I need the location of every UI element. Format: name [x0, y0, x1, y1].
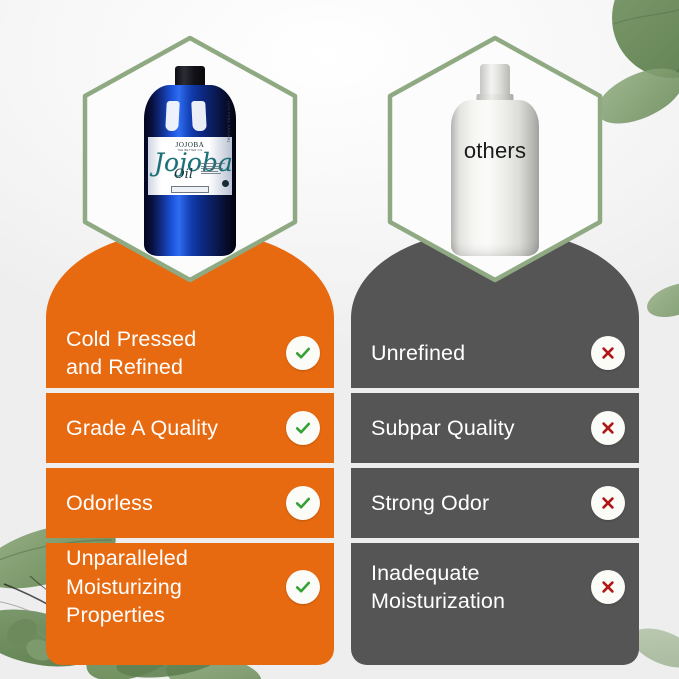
bottle-highlight-left — [165, 101, 180, 131]
comparison-infographic: Cold Pressed and Refined Grade A Quality… — [0, 0, 679, 679]
table-row[interactable]: Unrefined — [351, 318, 639, 388]
label-seal-icon — [222, 180, 229, 187]
hexagon-jojoba-content: JOJOBA THE BETTER OIL Jojoba Oil 100% PU… — [76, 32, 304, 286]
bottle-label-text: others — [451, 138, 539, 164]
table-row[interactable]: Subpar Quality — [351, 393, 639, 463]
right-column-others: Unrefined Subpar Quality Strong Odor — [351, 232, 639, 665]
row-label: Strong Odor — [371, 489, 583, 517]
table-row[interactable]: Inadequate Moisturization — [351, 543, 639, 631]
right-rows: Unrefined Subpar Quality Strong Odor — [351, 318, 639, 631]
bottle-body — [451, 100, 539, 256]
cross-icon — [591, 336, 625, 370]
others-bottle-image: others — [451, 64, 539, 256]
bottle-highlight-right — [191, 101, 207, 131]
bottle-body: JOJOBA THE BETTER OIL Jojoba Oil 100% PU… — [144, 85, 236, 256]
label-script-sub: Oil — [174, 167, 193, 182]
left-column-jojoba: Cold Pressed and Refined Grade A Quality… — [46, 232, 334, 665]
label-volume-strip — [171, 186, 209, 193]
row-label: Inadequate Moisturization — [371, 559, 583, 616]
row-label: Odorless — [66, 489, 278, 517]
table-row[interactable]: Unparalleled Moisturizing Properties — [46, 543, 334, 631]
hexagon-others-content: others — [381, 32, 609, 286]
row-label: Unrefined — [371, 339, 583, 367]
label-fine-print — [201, 163, 225, 176]
label-side-text: 100% PURE NATURAL — [226, 101, 230, 143]
row-label: Grade A Quality — [66, 414, 278, 442]
table-row[interactable]: Odorless — [46, 468, 334, 538]
cross-icon — [591, 486, 625, 520]
right-column-foot — [351, 631, 639, 665]
check-icon — [286, 411, 320, 445]
table-row[interactable]: Cold Pressed and Refined — [46, 318, 334, 388]
bottle-label: JOJOBA THE BETTER OIL Jojoba Oil 100% PU… — [148, 137, 232, 195]
left-column-foot — [46, 631, 334, 665]
row-label: Subpar Quality — [371, 414, 583, 442]
hexagon-jojoba: JOJOBA THE BETTER OIL Jojoba Oil 100% PU… — [76, 32, 304, 286]
jojoba-bottle-image: JOJOBA THE BETTER OIL Jojoba Oil 100% PU… — [144, 66, 236, 256]
check-icon — [286, 336, 320, 370]
row-label: Cold Pressed and Refined — [66, 325, 278, 382]
hexagon-others: others — [381, 32, 609, 286]
cross-icon — [591, 411, 625, 445]
row-label: Unparalleled Moisturizing Properties — [66, 544, 278, 629]
cross-icon — [591, 570, 625, 604]
check-icon — [286, 486, 320, 520]
leaf-right-middle — [643, 276, 679, 323]
bottle-neck — [480, 64, 510, 98]
leaf-top-right — [612, 0, 679, 78]
left-rows: Cold Pressed and Refined Grade A Quality… — [46, 318, 334, 631]
table-row[interactable]: Strong Odor — [351, 468, 639, 538]
check-icon — [286, 570, 320, 604]
table-row[interactable]: Grade A Quality — [46, 393, 334, 463]
